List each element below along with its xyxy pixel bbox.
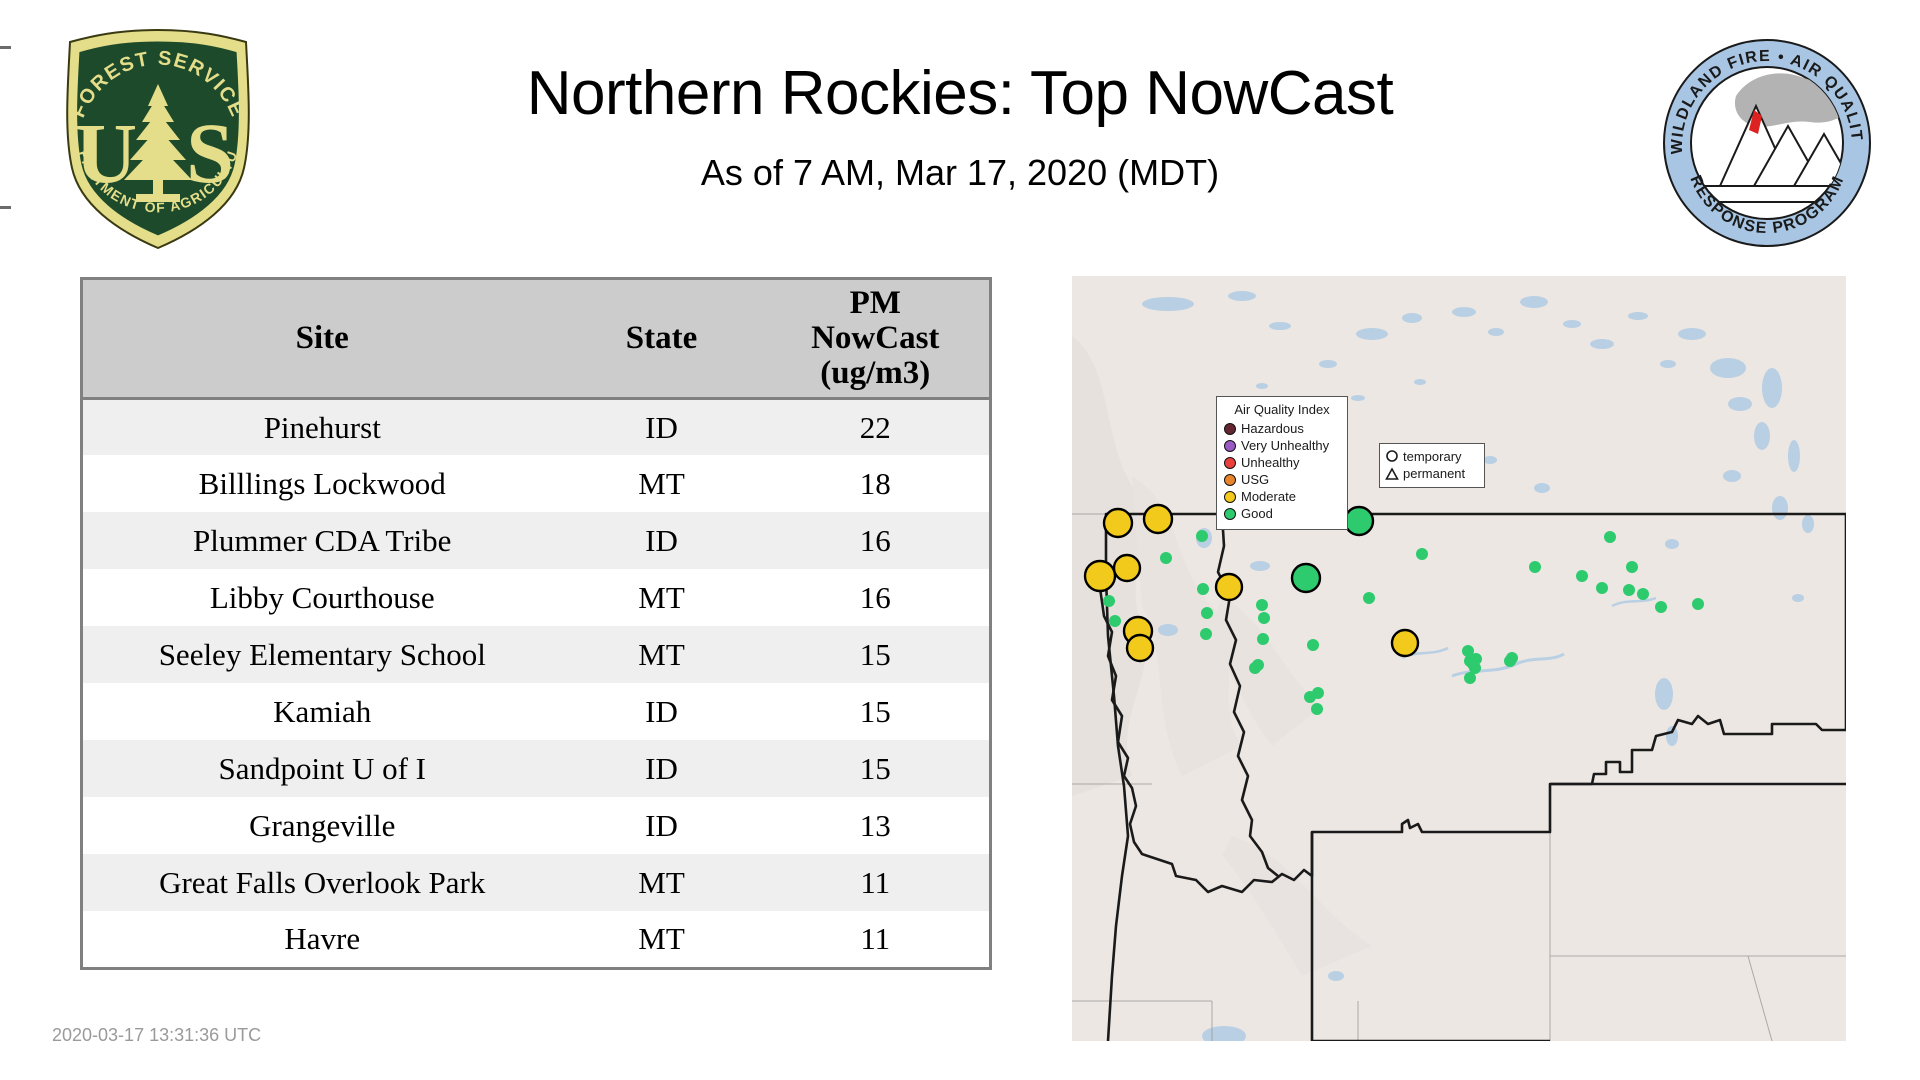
- cell-pm-nowcast: 16: [762, 569, 991, 626]
- legend-label-temporary: temporary: [1403, 449, 1462, 464]
- table-row[interactable]: PinehurstID22: [82, 398, 991, 455]
- cell-state: MT: [562, 455, 762, 512]
- monitor-marker-good[interactable]: [1109, 615, 1121, 627]
- table-row[interactable]: Seeley Elementary SchoolMT15: [82, 626, 991, 683]
- monitor-marker-good[interactable]: [1197, 583, 1209, 595]
- cell-pm-nowcast: 16: [762, 512, 991, 569]
- monitor-marker-moderate[interactable]: [1114, 555, 1140, 581]
- monitor-marker-good[interactable]: [1160, 552, 1172, 564]
- monitor-marker-good[interactable]: [1256, 599, 1268, 611]
- aqi-legend-rows: HazardousVery UnhealthyUnhealthyUSGModer…: [1224, 420, 1340, 522]
- cell-pm-nowcast: 15: [762, 626, 991, 683]
- slide-root: FOREST SERVICE DEPARTMENT OF AGRICULTURE…: [0, 0, 1920, 1080]
- aqi-legend-item-moderate: Moderate: [1224, 488, 1340, 505]
- cell-state: MT: [562, 569, 762, 626]
- cell-site: Pinehurst: [82, 398, 562, 455]
- table-row[interactable]: Sandpoint U of IID15: [82, 740, 991, 797]
- aqi-legend: Air Quality Index HazardousVery Unhealth…: [1216, 396, 1348, 530]
- pm-header-line-1: PM: [766, 286, 986, 321]
- cell-pm-nowcast: 18: [762, 455, 991, 512]
- usfs-shield-logo: FOREST SERVICE DEPARTMENT OF AGRICULTURE…: [48, 22, 268, 252]
- generation-timestamp: 2020-03-17 13:31:36 UTC: [52, 1025, 261, 1046]
- permanent-triangle-icon: [1385, 467, 1399, 481]
- monitor-marker-good[interactable]: [1655, 601, 1667, 613]
- cell-site: Billlings Lockwood: [82, 455, 562, 512]
- table-header: Site State PM NowCast (ug/m3): [82, 279, 991, 399]
- cell-state: ID: [562, 512, 762, 569]
- cell-site: Libby Courthouse: [82, 569, 562, 626]
- cell-state: MT: [562, 626, 762, 683]
- column-header-pm-nowcast[interactable]: PM NowCast (ug/m3): [762, 279, 991, 399]
- monitor-marker-good[interactable]: [1416, 548, 1428, 560]
- monitor-marker-good[interactable]: [1596, 582, 1608, 594]
- monitor-marker-good[interactable]: [1623, 584, 1635, 596]
- monitor-marker-good[interactable]: [1196, 530, 1208, 542]
- monitor-marker-moderate[interactable]: [1392, 630, 1418, 656]
- monitor-marker-moderate[interactable]: [1216, 574, 1242, 600]
- aqi-legend-title: Air Quality Index: [1224, 402, 1340, 417]
- monitor-marker-good[interactable]: [1529, 561, 1541, 573]
- cell-pm-nowcast: 22: [762, 398, 991, 455]
- monitor-marker-good[interactable]: [1576, 570, 1588, 582]
- monitor-marker-good[interactable]: [1604, 531, 1616, 543]
- monitor-marker-good[interactable]: [1637, 588, 1649, 600]
- nowcast-table: Site State PM NowCast (ug/m3) PinehurstI…: [80, 277, 992, 970]
- cell-pm-nowcast: 11: [762, 854, 991, 911]
- cell-site: Plummer CDA Tribe: [82, 512, 562, 569]
- edge-tick-bottom: [0, 206, 11, 209]
- monitor-marker-good[interactable]: [1103, 595, 1115, 607]
- table-row[interactable]: HavreMT11: [82, 911, 991, 968]
- aqi-legend-item-unhealthy: Unhealthy: [1224, 454, 1340, 471]
- usfs-letter-u: U: [75, 105, 137, 201]
- cell-site: Grangeville: [82, 797, 562, 854]
- monitor-marker-moderate[interactable]: [1104, 509, 1132, 537]
- cell-site: Great Falls Overlook Park: [82, 854, 562, 911]
- aqi-swatch-icon: [1224, 474, 1236, 486]
- monitor-marker-moderate[interactable]: [1127, 635, 1153, 661]
- cell-site: Sandpoint U of I: [82, 740, 562, 797]
- column-header-state[interactable]: State: [562, 279, 762, 399]
- aqi-legend-label: Very Unhealthy: [1241, 438, 1329, 453]
- page-subtitle: As of 7 AM, Mar 17, 2020 (MDT): [300, 152, 1620, 194]
- aqi-legend-label: Good: [1241, 506, 1273, 521]
- legend-row-temporary: temporary: [1385, 448, 1478, 465]
- column-header-site[interactable]: Site: [82, 279, 562, 399]
- aqi-legend-label: Moderate: [1241, 489, 1296, 504]
- cell-state: ID: [562, 683, 762, 740]
- legend-label-permanent: permanent: [1403, 466, 1465, 481]
- aqi-legend-item-very-unhealthy: Very Unhealthy: [1224, 437, 1340, 454]
- cell-site: Seeley Elementary School: [82, 626, 562, 683]
- monitor-marker-good[interactable]: [1257, 633, 1269, 645]
- page-title: Northern Rockies: Top NowCast: [300, 58, 1620, 129]
- table-row[interactable]: KamiahID15: [82, 683, 991, 740]
- cell-pm-nowcast: 15: [762, 683, 991, 740]
- wfaqrp-logo: WILDLAND FIRE • AIR QUALITY RESPONSE PRO…: [1658, 34, 1876, 252]
- usfs-letter-s: S: [186, 105, 234, 201]
- monitor-marker-good[interactable]: [1311, 703, 1323, 715]
- monitor-marker-good[interactable]: [1249, 662, 1261, 674]
- table-body: PinehurstID22Billlings LockwoodMT18Plumm…: [82, 398, 991, 968]
- aqi-swatch-icon: [1224, 491, 1236, 503]
- aqi-legend-item-usg: USG: [1224, 471, 1340, 488]
- table-header-row: Site State PM NowCast (ug/m3): [82, 279, 991, 399]
- cell-state: ID: [562, 740, 762, 797]
- legend-row-permanent: permanent: [1385, 465, 1478, 482]
- table-row[interactable]: Libby CourthouseMT16: [82, 569, 991, 626]
- air-quality-map[interactable]: [1072, 276, 1846, 1041]
- aqi-swatch-icon: [1224, 423, 1236, 435]
- cell-state: ID: [562, 797, 762, 854]
- aqi-swatch-icon: [1224, 508, 1236, 520]
- cell-site: Havre: [82, 911, 562, 968]
- table-row[interactable]: Billlings LockwoodMT18: [82, 455, 991, 512]
- edge-tick-top: [0, 46, 11, 49]
- aqi-legend-label: Unhealthy: [1241, 455, 1300, 470]
- monitor-marker-good[interactable]: [1258, 612, 1270, 624]
- aqi-legend-item-hazardous: Hazardous: [1224, 420, 1340, 437]
- aqi-legend-label: Hazardous: [1241, 421, 1304, 436]
- cell-pm-nowcast: 13: [762, 797, 991, 854]
- cell-site: Kamiah: [82, 683, 562, 740]
- table-row[interactable]: Great Falls Overlook ParkMT11: [82, 854, 991, 911]
- monitor-marker-good[interactable]: [1292, 564, 1320, 592]
- monitor-marker-good[interactable]: [1201, 607, 1213, 619]
- cell-state: ID: [562, 398, 762, 455]
- monitor-marker-good[interactable]: [1200, 628, 1212, 640]
- pm-header-line-3: (ug/m3): [766, 356, 986, 391]
- monitor-marker-good[interactable]: [1312, 687, 1324, 699]
- monitor-marker-good[interactable]: [1692, 598, 1704, 610]
- aqi-legend-label: USG: [1241, 472, 1269, 487]
- aqi-swatch-icon: [1224, 440, 1236, 452]
- monitor-marker-good[interactable]: [1345, 507, 1373, 535]
- map-canvas: [1072, 276, 1846, 1041]
- table-row[interactable]: Plummer CDA TribeID16: [82, 512, 991, 569]
- monitor-marker-good[interactable]: [1462, 645, 1474, 657]
- aqi-swatch-icon: [1224, 457, 1236, 469]
- monitor-marker-moderate[interactable]: [1144, 505, 1172, 533]
- table-row[interactable]: GrangevilleID13: [82, 797, 991, 854]
- monitor-type-legend: temporary permanent: [1379, 443, 1485, 488]
- temporary-circle-icon: [1385, 450, 1399, 464]
- monitor-marker-good[interactable]: [1307, 639, 1319, 651]
- monitor-marker-good[interactable]: [1506, 652, 1518, 664]
- nowcast-table-container: Site State PM NowCast (ug/m3) PinehurstI…: [80, 277, 992, 970]
- monitor-marker-good[interactable]: [1464, 672, 1476, 684]
- cell-state: MT: [562, 854, 762, 911]
- monitor-marker-good[interactable]: [1363, 592, 1375, 604]
- cell-pm-nowcast: 15: [762, 740, 991, 797]
- cell-state: MT: [562, 911, 762, 968]
- pm-header-line-2: NowCast: [766, 321, 986, 356]
- cell-pm-nowcast: 11: [762, 911, 991, 968]
- monitor-marker-moderate[interactable]: [1085, 561, 1115, 591]
- monitor-marker-good[interactable]: [1626, 561, 1638, 573]
- aqi-legend-item-good: Good: [1224, 505, 1340, 522]
